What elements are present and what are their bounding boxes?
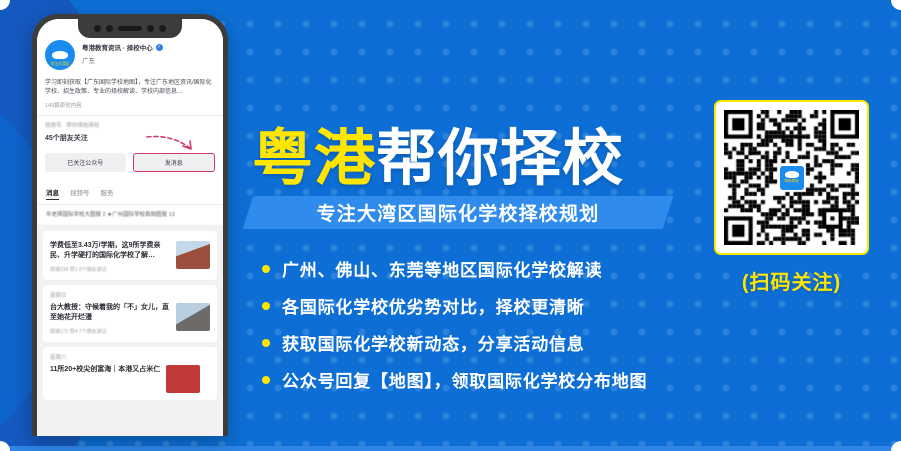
phone-mockup: 专注大湾区 粤港教育资讯 · 择校中心 ✓ 广东 学习即刻获取【广东国际学校地图… <box>32 14 228 436</box>
avatar[interactable]: 专注大湾区 <box>45 40 75 70</box>
article-feed: 学费低至3.43万/学期，这9所学费亲民、升学硬打的国际化学校了解… 阅读234… <box>37 226 223 405</box>
account-region: 广东 <box>82 55 215 65</box>
headline-rest: 帮你择校 <box>376 124 624 192</box>
list-item: 公众号回复【地图】，领取国际化学校分布地图 <box>262 367 647 392</box>
qr-center-logo: 帮你择校 <box>779 165 805 191</box>
list-item[interactable]: 学费低至3.43万/学期，这9所学费亲民、升学硬打的国际化学校了解… 阅读234… <box>43 231 217 280</box>
graduation-cap-icon <box>52 51 68 59</box>
article-date: 星期六 <box>50 353 210 361</box>
qr-code-block: 帮你择校 (扫码关注) <box>714 100 869 295</box>
tab-services[interactable]: 服务 <box>101 187 114 200</box>
send-message-label: 发消息 <box>165 158 183 167</box>
bullet-dot-icon <box>262 265 270 273</box>
bullet-dot-icon <box>262 302 270 310</box>
bullet-label: 公众号回复【地图】，领取国际化学校分布地图 <box>282 367 647 392</box>
bullet-label: 各国际化学校优劣势对比，择校更清晰 <box>282 293 585 318</box>
account-action-buttons: 已关注公众号 发消息 <box>37 146 223 181</box>
list-item[interactable]: 星期日 台大教授：守候着我的「不」女儿，直至她花开烂漫 阅读172 赞4 7个朋… <box>43 285 217 342</box>
video-channel-line: 视频号 · 帮你择校择校 <box>45 121 215 129</box>
page-title: 粤港帮你择校 <box>252 108 624 197</box>
account-name: 粤港教育资讯 · 择校中心 <box>82 42 153 52</box>
account-subscription-block: 视频号 · 帮你择校择校 45个朋友关注 <box>37 116 223 146</box>
account-name-row: 粤港教育资讯 · 择校中心 ✓ <box>82 42 215 52</box>
avatar-sub-label: 专注大湾区 <box>45 62 75 66</box>
article-count: 149篇原创内容 <box>45 101 215 109</box>
bullet-dot-icon <box>262 339 270 347</box>
bullet-label: 广州、佛山、东莞等地区国际化学校解读 <box>282 256 602 281</box>
notch-speaker-bar <box>118 26 142 31</box>
account-meta: 粤港教育资讯 · 择校中心 ✓ 广东 <box>82 40 215 70</box>
subtitle: 专注大湾区国际化学校择校规划 <box>248 196 668 229</box>
article-thumbnail <box>176 241 210 269</box>
followed-button[interactable]: 已关注公众号 <box>45 153 126 172</box>
list-item: 获取国际化学校新动态，分享活动信息 <box>262 330 647 355</box>
notch-sensor-dot <box>94 25 101 32</box>
headline-highlight: 粤港 <box>252 124 376 192</box>
feature-bullet-list: 广州、佛山、东莞等地区国际化学校解读 各国际化学校优劣势对比，择校更清晰 获取国… <box>262 256 647 392</box>
article-body: 11所20+校尖创富海｜本港又占米仁 <box>50 365 210 393</box>
bullet-label: 获取国际化学校新动态，分享活动信息 <box>282 330 585 355</box>
article-body: 学费低至3.43万/学期，这9所学费亲民、升学硬打的国际化学校了解… 阅读234… <box>50 241 210 273</box>
notch-sensor-dot <box>106 25 113 32</box>
verified-badge-icon: ✓ <box>156 44 163 51</box>
article-text-col: 学费低至3.43万/学期，这9所学费亲民、升学硬打的国际化学校了解… 阅读234… <box>50 241 170 273</box>
notch-camera-dot <box>159 25 166 32</box>
article-title: 学费低至3.43万/学期，这9所学费亲民、升学硬打的国际化学校了解… <box>50 241 170 262</box>
friends-following-count: 45个朋友关注 <box>45 133 215 143</box>
account-description: 学习即刻获取【广东国际学校地图】，专注广东地区资讯/国际化学校、招生政策、专业的… <box>45 79 215 98</box>
account-description-block: 学习即刻获取【广东国际学校地图】，专注广东地区资讯/国际化学校、招生政策、专业的… <box>37 77 223 116</box>
article-title: 11所20+校尖创富海｜本港又占米仁 <box>50 365 160 376</box>
article-title: 台大教授：守候着我的「不」女儿，直至她花开烂漫 <box>50 303 170 324</box>
article-body: 台大教授：守候着我的「不」女儿，直至她花开烂漫 阅读172 赞4 7个朋友读过 <box>50 303 210 335</box>
article-date: 星期日 <box>50 291 210 299</box>
qr-caption: (扫码关注) <box>742 266 841 295</box>
graduation-cap-icon <box>785 171 799 178</box>
tab-messages[interactable]: 消息 <box>46 187 59 200</box>
article-thumbnail <box>166 365 200 393</box>
promo-banner: 专注大湾区 粤港教育资讯 · 择校中心 ✓ 广东 学习即刻获取【广东国际学校地图… <box>0 0 901 451</box>
feed-tagline: 年老择国际学校大图报 2 ★广州国际学校真相图报 13 <box>37 205 223 226</box>
phone-tab-row: 消息 视频号 服务 <box>37 181 223 205</box>
bottom-strip <box>0 446 901 451</box>
list-item: 广州、佛山、东莞等地区国际化学校解读 <box>262 256 647 281</box>
tab-video-channel[interactable]: 视频号 <box>70 187 90 200</box>
qr-logo-label: 帮你择校 <box>784 179 798 184</box>
article-text-col: 台大教授：守候着我的「不」女儿，直至她花开烂漫 阅读172 赞4 7个朋友读过 <box>50 303 170 335</box>
list-item[interactable]: 星期六 11所20+校尖创富海｜本港又占米仁 <box>43 347 217 400</box>
article-thumbnail <box>176 303 210 331</box>
qr-code-frame[interactable]: 帮你择校 <box>714 100 869 255</box>
bullet-dot-icon <box>262 376 270 384</box>
phone-notch <box>78 19 182 38</box>
phone-screen: 专注大湾区 粤港教育资讯 · 择校中心 ✓ 广东 学习即刻获取【广东国际学校地图… <box>37 19 223 436</box>
article-stats: 阅读234 赞1 6个朋友读过 <box>50 266 170 273</box>
article-text-col: 11所20+校尖创富海｜本港又占米仁 <box>50 365 160 393</box>
send-message-button[interactable]: 发消息 <box>133 153 216 172</box>
notch-sensor-dot <box>147 25 154 32</box>
article-stats: 阅读172 赞4 7个朋友读过 <box>50 328 170 335</box>
list-item: 各国际化学校优劣势对比，择校更清晰 <box>262 293 647 318</box>
